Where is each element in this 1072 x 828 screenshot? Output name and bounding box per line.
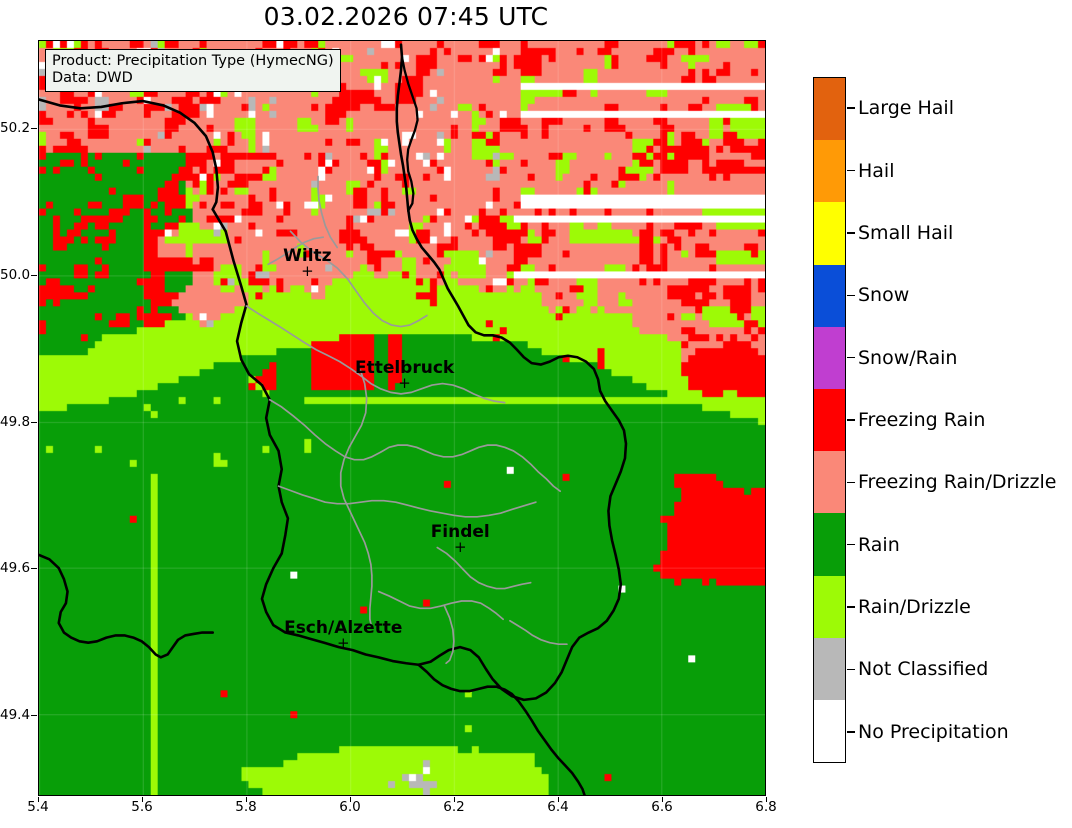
- colorbar-tick: [847, 295, 855, 296]
- colorbar-tick: [847, 170, 855, 171]
- city-marker-findel: Findel+: [431, 523, 490, 554]
- x-tick-mark: [766, 797, 767, 802]
- colorbar-label-rain-drizzle: Rain/Drizzle: [858, 596, 971, 618]
- colorbar-segment-snow[interactable]: [814, 265, 845, 327]
- colorbar-segment-small-hail[interactable]: [814, 202, 845, 264]
- colorbar-segment-snow-rain[interactable]: [814, 327, 845, 389]
- colorbar-tick: [847, 107, 855, 108]
- city-cross-icon: +: [431, 541, 490, 554]
- x-tick-mark: [38, 797, 39, 802]
- y-tick-label: 50.0: [0, 267, 30, 283]
- colorbar-tick: [847, 669, 855, 670]
- colorbar-label-freezing-rain: Freezing Rain: [858, 409, 985, 431]
- y-tick-mark: [31, 715, 37, 716]
- page-title: 03.02.2026 07:45 UTC: [0, 2, 812, 31]
- city-cross-icon: +: [355, 377, 454, 390]
- city-cross-icon: +: [283, 265, 331, 278]
- colorbar-tick: [847, 606, 855, 607]
- colorbar-label-large-hail: Large Hail: [858, 97, 954, 119]
- city-marker-ettelbruck: Ettelbruck+: [355, 359, 454, 390]
- x-tick-mark: [454, 797, 455, 802]
- colorbar-segment-large-hail[interactable]: [814, 78, 845, 140]
- colorbar-label-hail: Hail: [858, 160, 895, 182]
- weather-map-figure: 03.02.2026 07:45 UTC Product: Precipitat…: [0, 0, 1072, 828]
- colorbar-label-not-classified: Not Classified: [858, 658, 988, 680]
- colorbar-tick: [847, 357, 855, 358]
- colorbar-label-snow-rain: Snow/Rain: [858, 347, 957, 369]
- info-product-line: Product: Precipitation Type (HymecNG): [52, 53, 334, 70]
- y-tick-label: 49.4: [0, 707, 30, 723]
- x-tick-mark: [246, 797, 247, 802]
- colorbar-segment-freezing-rain[interactable]: [814, 389, 845, 451]
- y-tick-mark: [31, 275, 37, 276]
- colorbar-tick: [847, 232, 855, 233]
- colorbar-tick: [847, 419, 855, 420]
- colorbar-label-no-precipitation: No Precipitation: [858, 721, 1009, 743]
- city-marker-esch-alzette: Esch/Alzette+: [284, 619, 402, 650]
- colorbar-segment-rain[interactable]: [814, 513, 845, 575]
- colorbar-tick: [847, 482, 855, 483]
- x-tick-mark: [558, 797, 559, 802]
- city-marker-wiltz: Wiltz+: [283, 247, 331, 278]
- map-borders-overlay: [39, 41, 765, 795]
- colorbar-segment-hail[interactable]: [814, 140, 845, 202]
- product-info-box: Product: Precipitation Type (HymecNG) Da…: [45, 49, 341, 92]
- colorbar-label-small-hail: Small Hail: [858, 222, 953, 244]
- y-tick-mark: [31, 128, 37, 129]
- info-data-line: Data: DWD: [52, 70, 334, 87]
- x-tick-mark: [350, 797, 351, 802]
- city-cross-icon: +: [284, 637, 402, 650]
- precipitation-type-colorbar[interactable]: [813, 77, 846, 763]
- colorbar-segment-rain-drizzle[interactable]: [814, 576, 845, 638]
- y-tick-label: 50.2: [0, 120, 30, 136]
- colorbar-segment-freezing-rain-drizzle[interactable]: [814, 451, 845, 513]
- colorbar-tick: [847, 544, 855, 545]
- colorbar-label-snow: Snow: [858, 284, 909, 306]
- x-tick-mark: [662, 797, 663, 802]
- y-tick-label: 49.8: [0, 414, 30, 430]
- y-tick-mark: [31, 568, 37, 569]
- colorbar-label-rain: Rain: [858, 534, 900, 556]
- x-tick-mark: [142, 797, 143, 802]
- precipitation-map-plot[interactable]: Product: Precipitation Type (HymecNG) Da…: [38, 40, 766, 796]
- colorbar-label-freezing-rain-drizzle: Freezing Rain/Drizzle: [858, 471, 1057, 493]
- y-tick-mark: [31, 422, 37, 423]
- y-tick-label: 49.6: [0, 560, 30, 576]
- colorbar-segment-no-precipitation[interactable]: [814, 700, 845, 762]
- colorbar-segment-not-classified[interactable]: [814, 638, 845, 700]
- colorbar-tick: [847, 731, 855, 732]
